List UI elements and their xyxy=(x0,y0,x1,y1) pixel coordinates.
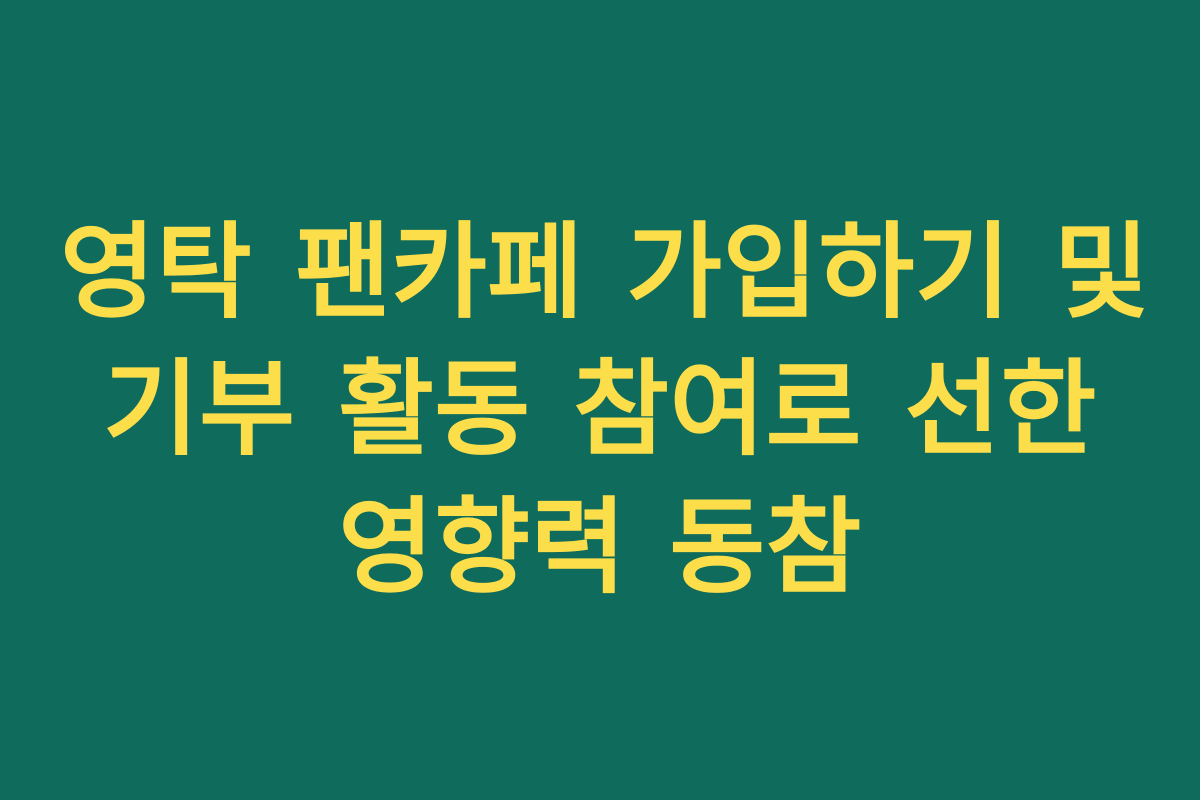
headline-line-1: 영탁 팬카페 가입하기 및 xyxy=(60,204,1140,341)
banner-headline: 영탁 팬카페 가입하기 및 기부 활동 참여로 선한 영향력 동참 xyxy=(60,204,1140,616)
headline-line-2: 기부 활동 참여로 선한 xyxy=(60,341,1140,478)
banner-canvas: 영탁 팬카페 가입하기 및 기부 활동 참여로 선한 영향력 동참 xyxy=(0,0,1200,800)
headline-line-3: 영향력 동참 xyxy=(60,479,1140,616)
